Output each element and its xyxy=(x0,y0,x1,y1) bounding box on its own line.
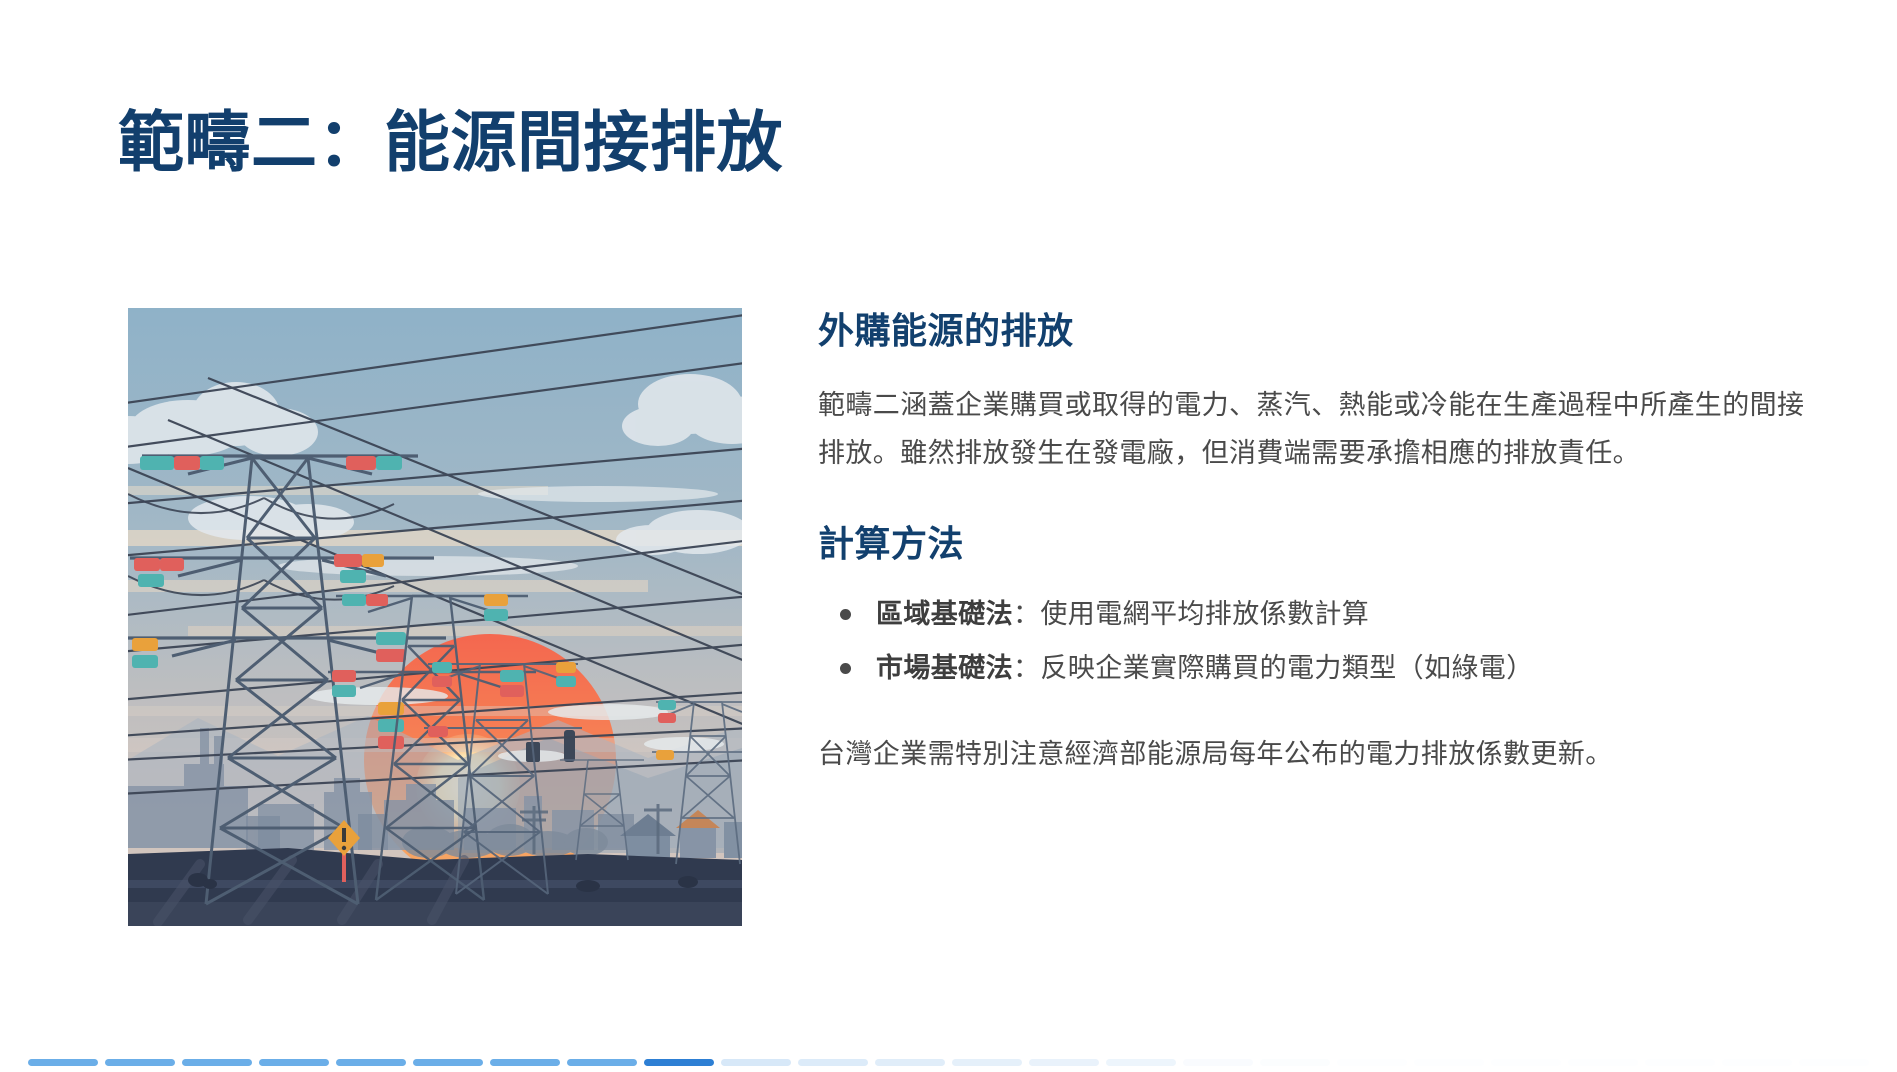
calculation-method-list: 區域基礎法：使用電網平均排放係數計算 市場基礎法：反映企業實際購買的電力類型（如… xyxy=(818,590,1818,692)
progress-segment-15[interactable] xyxy=(1106,1059,1176,1066)
page-title: 範疇二：能源間接排放 xyxy=(118,106,783,180)
bullet-dot-icon xyxy=(840,663,851,674)
illustration-power-grid xyxy=(128,308,742,926)
list-item-desc: 使用電網平均排放係數計算 xyxy=(1040,599,1369,629)
list-item-separator: ： xyxy=(1013,599,1040,629)
progress-segment-3[interactable] xyxy=(182,1059,252,1066)
progress-segment-8[interactable] xyxy=(567,1059,637,1066)
bullet-dot-icon xyxy=(840,609,851,620)
section-heading-purchased-energy: 外購能源的排放 xyxy=(818,308,1818,355)
progress-segment-12[interactable] xyxy=(875,1059,945,1066)
slide-root: 範疇二：能源間接排放 xyxy=(0,0,1897,1072)
slide-content: 外購能源的排放 範疇二涵蓋企業購買或取得的電力、蒸汽、熱能或冷能在生產過程中所產… xyxy=(0,308,1897,948)
progress-segment-10[interactable] xyxy=(721,1059,791,1066)
power-grid-svg xyxy=(128,308,742,926)
progress-segment-2[interactable] xyxy=(105,1059,175,1066)
list-item-separator: ： xyxy=(1013,653,1040,683)
section-heading-calculation-method: 計算方法 xyxy=(818,521,1818,568)
progress-segment-19[interactable] xyxy=(1414,1059,1484,1066)
progress-segment-5[interactable] xyxy=(336,1059,406,1066)
progress-segment-16[interactable] xyxy=(1183,1059,1253,1066)
paragraph-taiwan-note: 台灣企業需特別注意經濟部能源局每年公布的電力排放係數更新。 xyxy=(818,730,1818,778)
progress-segment-18[interactable] xyxy=(1337,1059,1407,1066)
progress-segment-4[interactable] xyxy=(259,1059,329,1066)
progress-segment-20[interactable] xyxy=(1491,1059,1561,1066)
progress-segment-23[interactable] xyxy=(1722,1059,1792,1066)
text-column: 外購能源的排放 範疇二涵蓋企業購買或取得的電力、蒸汽、熱能或冷能在生產過程中所產… xyxy=(818,308,1818,778)
progress-segment-21[interactable] xyxy=(1568,1059,1638,1066)
list-item: 區域基礎法：使用電網平均排放係數計算 xyxy=(818,590,1818,638)
progress-segment-14[interactable] xyxy=(1029,1059,1099,1066)
progress-segment-17[interactable] xyxy=(1260,1059,1330,1066)
paragraph-scope2-definition: 範疇二涵蓋企業購買或取得的電力、蒸汽、熱能或冷能在生產過程中所產生的間接排放。雖… xyxy=(818,381,1818,477)
slide-progress-bar[interactable] xyxy=(0,1059,1897,1066)
list-item-label: 市場基礎法 xyxy=(876,653,1013,683)
progress-segment-11[interactable] xyxy=(798,1059,868,1066)
progress-segment-7[interactable] xyxy=(490,1059,560,1066)
progress-segment-1[interactable] xyxy=(28,1059,98,1066)
list-item: 市場基礎法：反映企業實際購買的電力類型（如綠電） xyxy=(818,644,1818,692)
progress-segment-24[interactable] xyxy=(1799,1059,1869,1066)
progress-segment-22[interactable] xyxy=(1645,1059,1715,1066)
progress-segment-6[interactable] xyxy=(413,1059,483,1066)
list-item-label: 區域基礎法 xyxy=(876,599,1013,629)
progress-segment-9[interactable] xyxy=(644,1059,714,1066)
progress-segment-13[interactable] xyxy=(952,1059,1022,1066)
list-item-desc: 反映企業實際購買的電力類型（如綠電） xyxy=(1040,653,1533,683)
